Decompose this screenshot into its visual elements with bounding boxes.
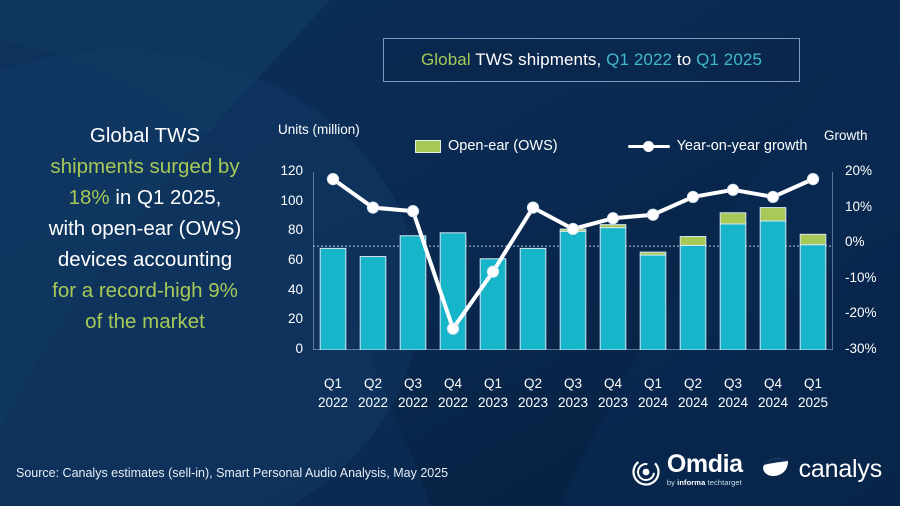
x-tick-label: Q22023 <box>513 374 553 412</box>
chart-plot-area <box>313 172 833 350</box>
omdia-tagline: by informa techtarget <box>667 479 743 487</box>
x-axis-tick-labels: Q12022Q22022Q32022Q42022Q12023Q22023Q320… <box>313 372 833 414</box>
headline-line-5: devices accounting <box>14 244 276 275</box>
headline-line-4: with open-ear (OWS) <box>14 213 276 244</box>
bar-open-ear <box>600 225 626 228</box>
x-tick-label: Q22024 <box>673 374 713 412</box>
omdia-mark-icon <box>631 457 661 487</box>
growth-marker <box>327 174 338 185</box>
chart-legend: Open-ear (OWS) Year-on-year growth <box>415 138 807 154</box>
growth-marker <box>527 202 538 213</box>
source-note: Source: Canalys estimates (sell-in), Sma… <box>16 466 448 480</box>
headline-line-2: shipments surged by <box>14 151 276 182</box>
y2-tick-label: -30% <box>845 341 899 356</box>
title-segment-1: Global <box>421 50 471 69</box>
x-tick-label: Q12023 <box>473 374 513 412</box>
bar-base <box>600 228 626 350</box>
growth-marker <box>607 213 618 224</box>
headline-summary: Global TWS shipments surged by 18% in Q1… <box>14 120 276 337</box>
legend-label-open-ear: Open-ear (OWS) <box>448 138 558 154</box>
headline-line-3-rest: in Q1 2025, <box>110 186 222 209</box>
title-segment-2: TWS shipments, <box>471 50 606 69</box>
legend-item-growth[interactable]: Year-on-year growth <box>628 138 808 154</box>
x-tick-label: Q12024 <box>633 374 673 412</box>
logo-group: Omdia by informa techtarget canalys <box>631 452 882 487</box>
y2-tick-label: -20% <box>845 305 899 320</box>
omdia-logo: Omdia by informa techtarget <box>631 452 743 487</box>
bar-open-ear <box>720 213 746 224</box>
growth-marker <box>367 202 378 213</box>
growth-marker <box>647 209 658 220</box>
y-axis-title: Units (million) <box>278 122 360 137</box>
bar-base <box>360 257 386 350</box>
legend-swatch-icon-open-ear <box>415 140 441 153</box>
y2-axis-title: Growth <box>824 128 868 143</box>
x-tick-label: Q32023 <box>553 374 593 412</box>
bar-open-ear <box>640 252 666 255</box>
x-tick-label: Q42022 <box>433 374 473 412</box>
bar-base <box>400 236 426 350</box>
omdia-wordmark: Omdia <box>667 452 743 477</box>
y-tick-label: 20 <box>259 311 303 326</box>
growth-marker <box>567 223 578 234</box>
title-segment-4: to <box>672 50 696 69</box>
growth-marker <box>767 191 778 202</box>
bar-base <box>520 248 546 350</box>
x-tick-label: Q42023 <box>593 374 633 412</box>
canalys-wordmark: canalys <box>799 455 882 484</box>
legend-item-open-ear[interactable]: Open-ear (OWS) <box>415 138 558 154</box>
headline-line-1: Global TWS <box>14 120 276 151</box>
y2-tick-label: -10% <box>845 270 899 285</box>
growth-marker <box>447 323 458 334</box>
y-tick-label: 80 <box>259 222 303 237</box>
canalys-logo: canalys <box>761 455 882 484</box>
growth-marker <box>407 206 418 217</box>
x-tick-label: Q12025 <box>793 374 833 412</box>
x-tick-label: Q32022 <box>393 374 433 412</box>
growth-marker <box>727 184 738 195</box>
growth-marker <box>807 174 818 185</box>
headline-line-3-accent: 18% <box>69 186 110 209</box>
headline-line-6: for a record-high 9% <box>14 275 276 306</box>
y2-tick-label: 20% <box>845 163 899 178</box>
y-tick-label: 120 <box>259 163 303 178</box>
legend-label-growth: Year-on-year growth <box>677 138 808 154</box>
headline-line-3: 18% in Q1 2025, <box>14 182 276 213</box>
y-tick-label: 40 <box>259 282 303 297</box>
headline-line-7: of the market <box>14 306 276 337</box>
x-tick-label: Q22022 <box>353 374 393 412</box>
legend-line-marker-icon-growth <box>628 140 670 153</box>
bar-open-ear <box>680 237 706 246</box>
y2-tick-label: 0% <box>845 234 899 249</box>
y-tick-label: 0 <box>259 341 303 356</box>
bar-base <box>320 248 346 350</box>
title-segment-5: Q1 2025 <box>696 50 762 69</box>
bar-base <box>640 255 666 350</box>
bar-base <box>800 245 826 350</box>
title-segment-3: Q1 2022 <box>606 50 672 69</box>
y-tick-label: 100 <box>259 193 303 208</box>
bar-open-ear <box>800 234 826 244</box>
growth-marker <box>487 266 498 277</box>
x-tick-label: Q42024 <box>753 374 793 412</box>
bar-base <box>680 245 706 350</box>
x-tick-label: Q32024 <box>713 374 753 412</box>
bar-base <box>560 231 586 350</box>
bar-base <box>720 224 746 350</box>
bar-base <box>760 221 786 350</box>
canalys-mark-icon <box>761 456 791 482</box>
page-title: Global TWS shipments, Q1 2022 to Q1 2025 <box>421 50 762 70</box>
x-tick-label: Q12022 <box>313 374 353 412</box>
y2-tick-label: 10% <box>845 199 899 214</box>
growth-marker <box>687 191 698 202</box>
y-tick-label: 60 <box>259 252 303 267</box>
chart-title-banner: Global TWS shipments, Q1 2022 to Q1 2025 <box>383 38 800 82</box>
bar-open-ear <box>760 208 786 221</box>
